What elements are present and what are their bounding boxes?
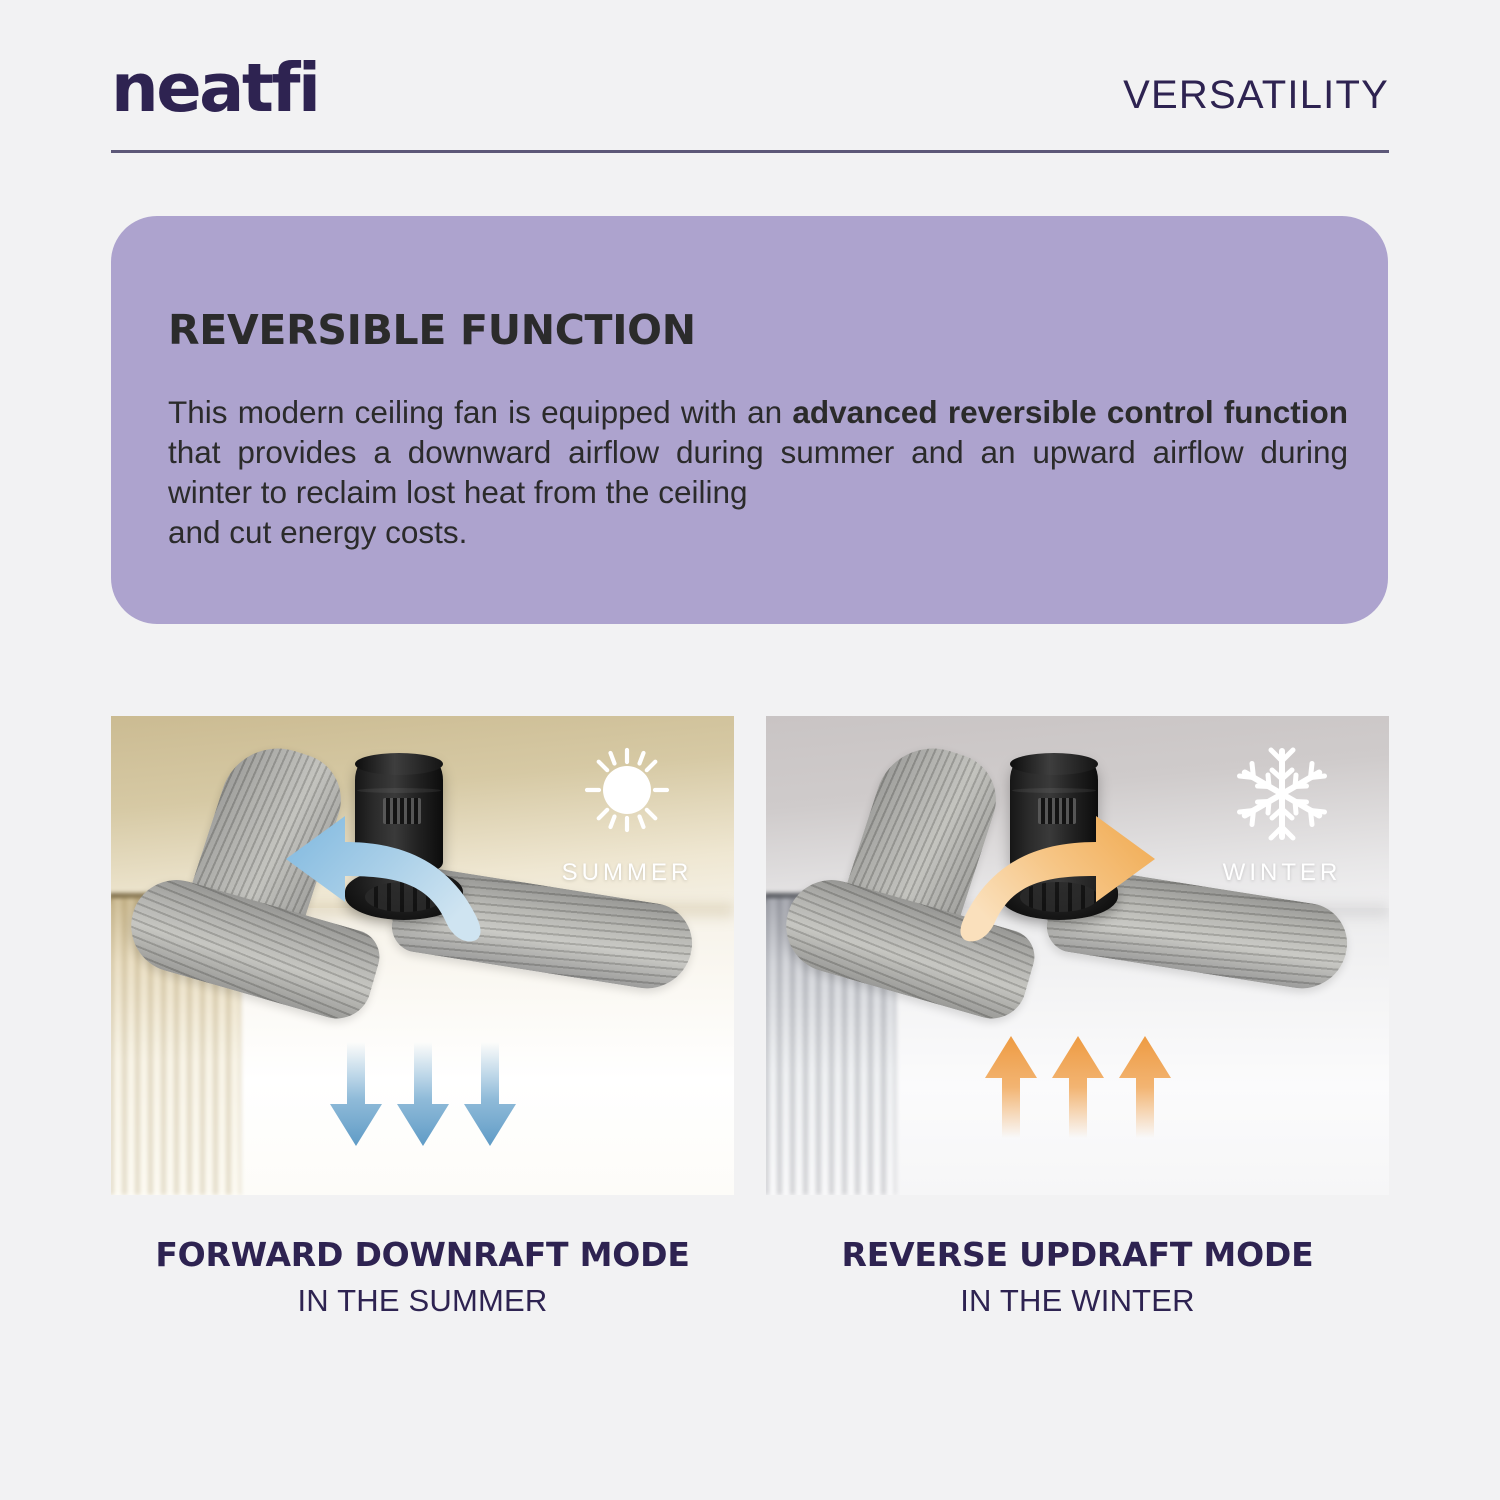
feature-card: REVERSIBLE FUNCTION This modern ceiling …	[111, 216, 1388, 624]
caption-summer: FORWARD DOWNRAFT MODE IN THE SUMMER	[111, 1235, 734, 1319]
motor-seam-ring	[1012, 788, 1096, 793]
page-header: neatfi VERSATILITY	[111, 55, 1389, 155]
brand-logo: neatfi	[111, 55, 319, 122]
caption-summer-sub: IN THE SUMMER	[111, 1283, 734, 1319]
snowflake-icon	[1230, 742, 1334, 846]
airflow-arrows-down	[330, 1042, 516, 1152]
airflow-arrow-up-3	[1119, 1034, 1171, 1140]
header-divider	[111, 150, 1389, 153]
badge-label-winter: WINTER	[1207, 859, 1357, 887]
motor-seam-ring	[357, 788, 441, 793]
sun-icon	[575, 742, 679, 846]
room-scene-winter: WINTER	[766, 716, 1389, 1195]
weather-badge-summer: SUMMER	[552, 742, 702, 887]
mode-panels: SUMMER	[111, 716, 1389, 1195]
feature-card-body: This modern ceiling fan is equipped with…	[168, 392, 1348, 552]
curved-arrow-left-icon	[268, 804, 518, 954]
panel-winter: WINTER	[766, 716, 1389, 1195]
motor-top-cap	[1010, 753, 1098, 775]
room-scene-summer: SUMMER	[111, 716, 734, 1195]
page-title: VERSATILITY	[1123, 73, 1389, 118]
badge-label-summer: SUMMER	[552, 859, 702, 887]
feature-card-title: REVERSIBLE FUNCTION	[168, 306, 696, 354]
airflow-arrows-up	[985, 1034, 1171, 1144]
airflow-arrow-down-3	[464, 1042, 516, 1148]
body-text-part2: that provides a downward airflow during …	[168, 434, 1348, 510]
caption-winter: REVERSE UPDRAFT MODE IN THE WINTER	[766, 1235, 1389, 1319]
body-text-part1: This modern ceiling fan is equipped with…	[168, 394, 792, 430]
weather-badge-winter: WINTER	[1207, 742, 1357, 887]
airflow-arrow-down-2	[397, 1042, 449, 1148]
motor-top-cap	[355, 753, 443, 775]
infographic-page: neatfi VERSATILITY REVERSIBLE FUNCTION T…	[0, 0, 1500, 1500]
caption-winter-main: REVERSE UPDRAFT MODE	[766, 1235, 1389, 1274]
body-text-bold: advanced reversible control function	[792, 394, 1348, 430]
body-text-part3: and cut energy costs.	[168, 512, 1348, 552]
panel-summer: SUMMER	[111, 716, 734, 1195]
airflow-arrow-up-1	[985, 1034, 1037, 1140]
caption-summer-main: FORWARD DOWNRAFT MODE	[111, 1235, 734, 1274]
airflow-arrow-down-1	[330, 1042, 382, 1148]
caption-winter-sub: IN THE WINTER	[766, 1283, 1389, 1319]
airflow-arrow-up-2	[1052, 1034, 1104, 1140]
curved-arrow-right-icon	[923, 804, 1173, 954]
